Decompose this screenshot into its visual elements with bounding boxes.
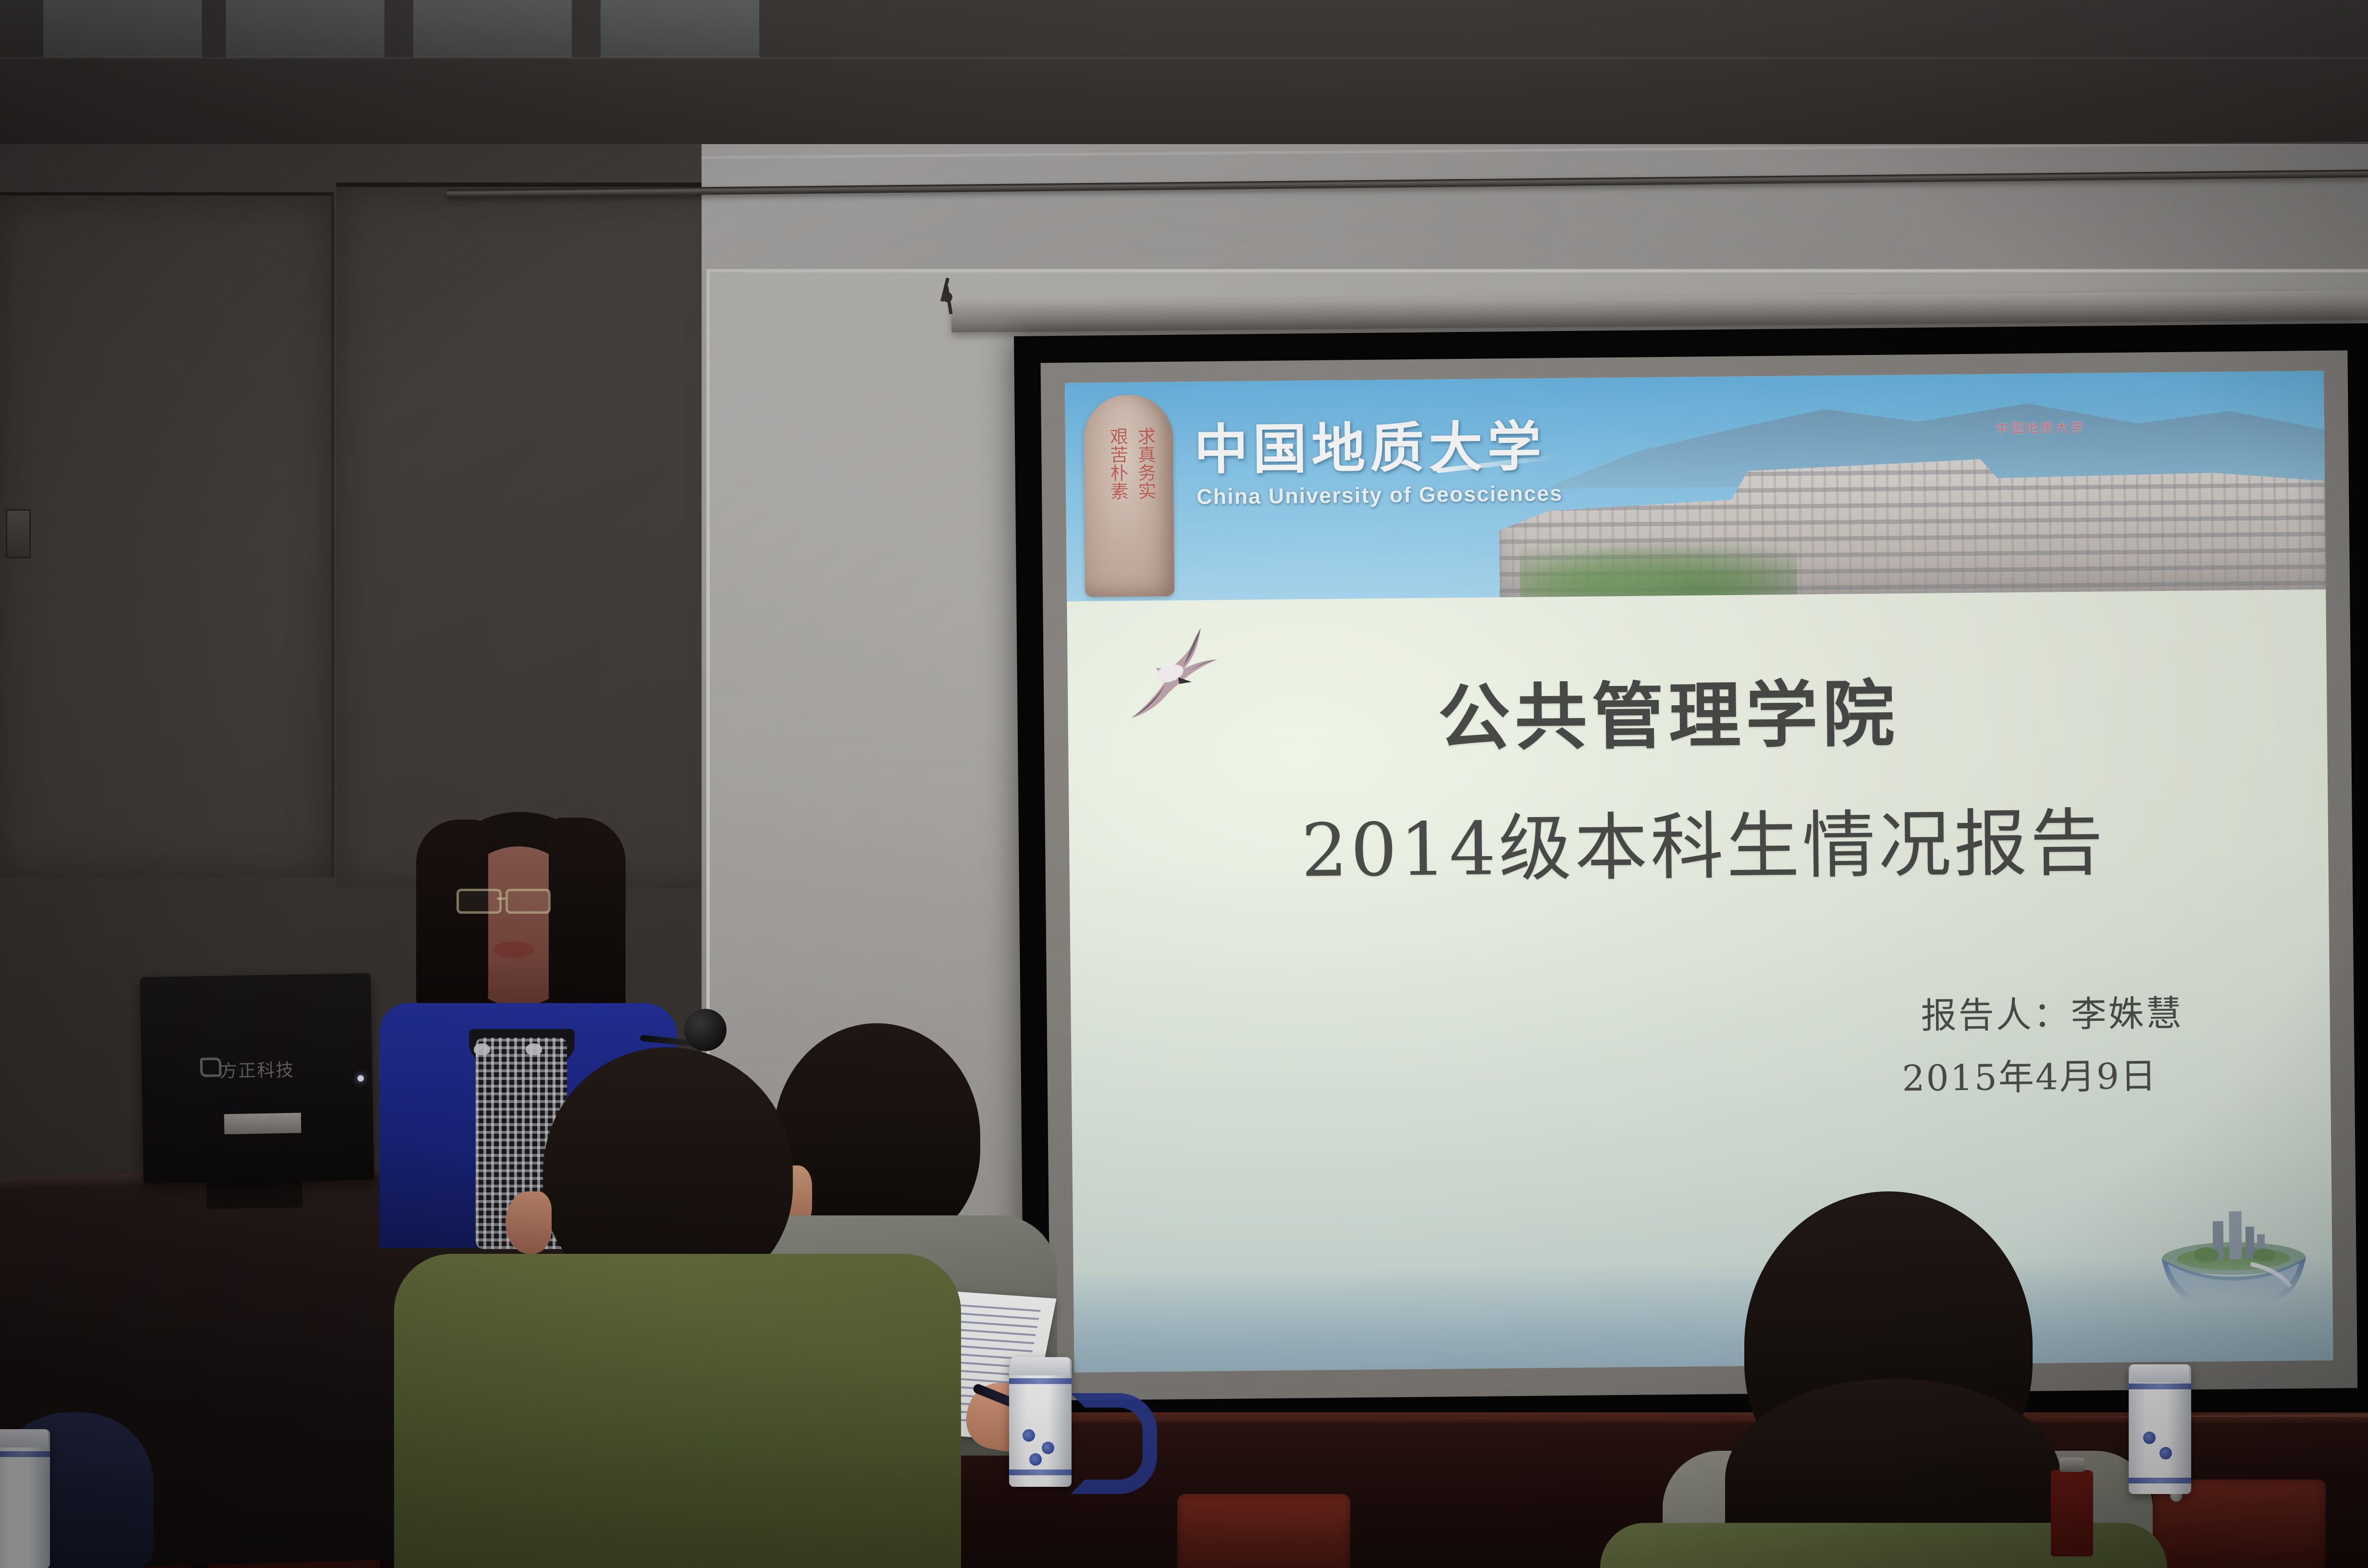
ceiling-tile xyxy=(601,0,759,58)
mug-band xyxy=(2129,1384,2191,1389)
mug-flower-motif xyxy=(1029,1453,1042,1466)
lecture-hall-photo: 中国地质大学 艰苦朴素 求真务实 中国地质大学 China University… xyxy=(0,0,2368,1568)
mug-flower-motif xyxy=(2159,1447,2172,1459)
monitor-spec-sticker xyxy=(224,1113,301,1134)
campus-trees xyxy=(1519,537,1797,601)
chair[interactable] xyxy=(1177,1494,1350,1568)
mug-lid xyxy=(2131,1364,2189,1383)
wall-panel-left xyxy=(0,192,334,878)
ceiling-tile xyxy=(413,0,572,58)
blue-mug-handle xyxy=(1071,1393,1157,1494)
eyeglasses-right-lens-icon xyxy=(506,889,551,914)
slide-presenter-line: 报告人：李姝慧 xyxy=(1921,985,2183,1039)
dark-red-bottle[interactable] xyxy=(2051,1470,2093,1556)
mug-flower-motif xyxy=(2143,1432,2156,1444)
mug-lid xyxy=(0,1429,48,1447)
monitor-stand xyxy=(206,1178,303,1209)
eyeglasses-left-lens-icon xyxy=(456,889,502,914)
attendee-ear xyxy=(506,1191,552,1254)
wall-panel-right xyxy=(336,183,730,888)
university-name-cn: 中国地质大学 xyxy=(1194,403,1546,484)
bottle-cap xyxy=(2060,1458,2084,1472)
slide-title: 公共管理学院 xyxy=(1068,652,2270,768)
ceiling-tile xyxy=(43,0,202,58)
attendee-front-left xyxy=(394,1047,961,1568)
presenter-hair-left xyxy=(416,820,488,1026)
mug-right[interactable] xyxy=(2129,1364,2191,1494)
attendee-body xyxy=(394,1254,961,1568)
mug-band xyxy=(2129,1478,2191,1483)
mug-band xyxy=(1009,1470,1072,1475)
campus-stone-monument: 艰苦朴素 求真务实 xyxy=(1083,394,1174,597)
university-name-en: China University of Geosciences xyxy=(1196,481,1563,509)
stone-motto-column-2: 求真务实 xyxy=(1135,427,1156,584)
mug-flower-motif xyxy=(1023,1429,1035,1442)
building-sign-text: 中国地质大学 xyxy=(1996,417,2085,437)
mug-band xyxy=(1009,1378,1072,1384)
power-led-icon xyxy=(358,1075,364,1081)
wall-switch[interactable] xyxy=(6,509,31,558)
ceiling xyxy=(0,0,2368,159)
ceiling-tile xyxy=(226,0,384,58)
presenter-mouth xyxy=(493,942,534,958)
stone-motto-column-1: 艰苦朴素 xyxy=(1107,427,1128,585)
stone-inscription: 艰苦朴素 求真务实 xyxy=(1103,427,1160,585)
mug-flower-motif xyxy=(1042,1442,1054,1454)
monitor-brand-text: 方正科技 xyxy=(141,1054,372,1084)
screen-hook-icon xyxy=(939,278,954,315)
slide-header-banner: 中国地质大学 艰苦朴素 求真务实 中国地质大学 China University… xyxy=(1065,371,2326,601)
mug-left[interactable] xyxy=(1009,1357,1072,1487)
eyeglasses-bridge-icon xyxy=(497,897,506,900)
slide-subtitle: 2014级本科生情况报告 xyxy=(1098,782,2309,899)
mug-band xyxy=(0,1451,50,1457)
slide-date-line: 2015年4月9日 xyxy=(1902,1047,2158,1101)
mug-far-left[interactable] xyxy=(0,1429,50,1568)
ceiling-seam xyxy=(0,57,2368,59)
mug-lid xyxy=(1011,1357,1070,1375)
presenter-hair-right xyxy=(549,818,626,1034)
hook-knob xyxy=(942,292,952,302)
computer-monitor[interactable]: 方正科技 xyxy=(140,973,374,1184)
